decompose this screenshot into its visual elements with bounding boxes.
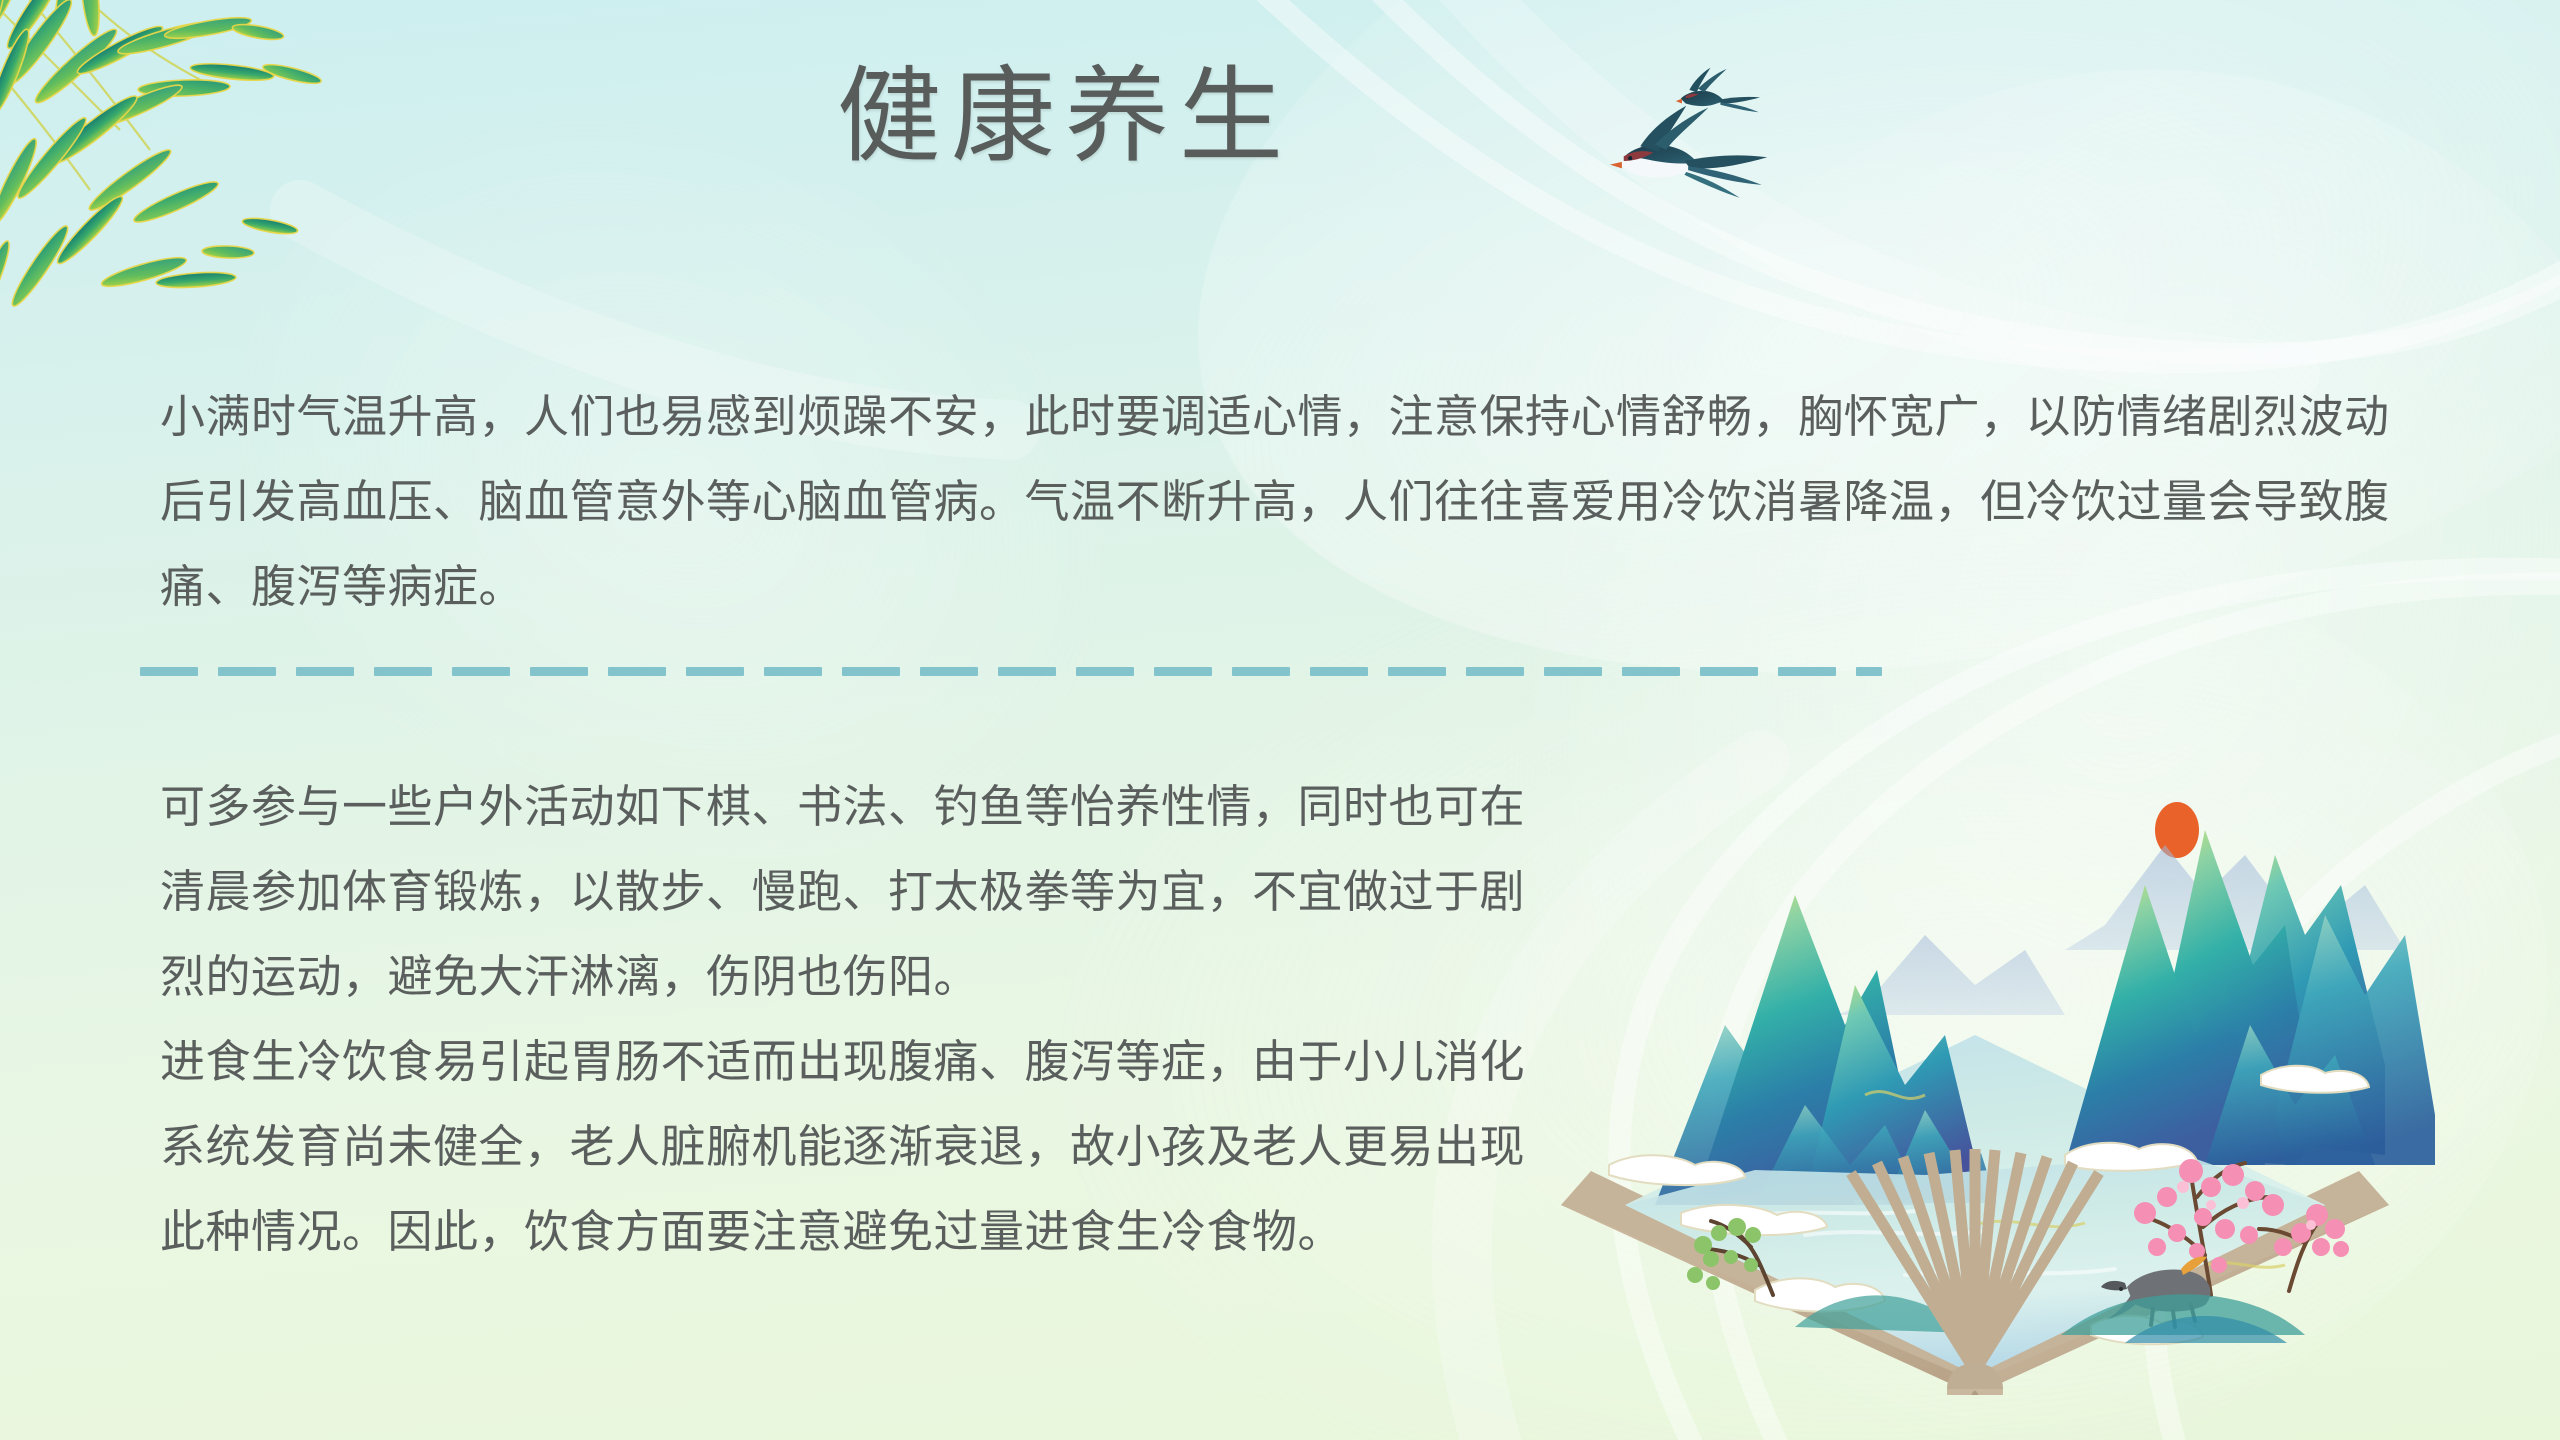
divider-dash: [1388, 667, 1446, 676]
divider-dash: [1622, 667, 1680, 676]
divider-dash: [686, 667, 744, 676]
divider-dash: [530, 667, 588, 676]
divider-dash: [1856, 667, 1882, 676]
folding-fan-landscape-illustration: [1505, 735, 2445, 1395]
divider-dash: [140, 667, 198, 676]
paragraph-top: 小满时气温升高，人们也易感到烦躁不安，此时要调适心情，注意保持心情舒畅，胸怀宽广…: [160, 374, 2410, 629]
paragraph-middle: 可多参与一些户外活动如下棋、书法、钓鱼等怡养性情，同时也可在清晨参加体育锻炼，以…: [160, 764, 1560, 1019]
divider-dash: [1310, 667, 1368, 676]
divider-dash: [1154, 667, 1212, 676]
divider-dash: [296, 667, 354, 676]
divider-dash: [1076, 667, 1134, 676]
divider-dash: [920, 667, 978, 676]
divider-dash: [998, 667, 1056, 676]
divider-dash: [218, 667, 276, 676]
paragraph-bottom: 进食生冷饮食易引起胃肠不适而出现腹痛、腹泻等症，由于小儿消化系统发育尚未健全，老…: [160, 1019, 1560, 1274]
divider-dash: [1700, 667, 1758, 676]
divider-dash: [608, 667, 666, 676]
divider-dash: [452, 667, 510, 676]
poster-canvas: 健康养生: [0, 0, 2560, 1440]
divider-dash: [1544, 667, 1602, 676]
divider-dash: [842, 667, 900, 676]
divider-dash: [1778, 667, 1836, 676]
page-title: 健康养生: [0, 62, 2340, 174]
poster-header: 健康养生: [0, 0, 2560, 230]
divider-dash: [764, 667, 822, 676]
divider-dash: [1232, 667, 1290, 676]
divider-dash: [1466, 667, 1524, 676]
divider-dash: [374, 667, 432, 676]
dashed-divider: [140, 667, 2186, 676]
